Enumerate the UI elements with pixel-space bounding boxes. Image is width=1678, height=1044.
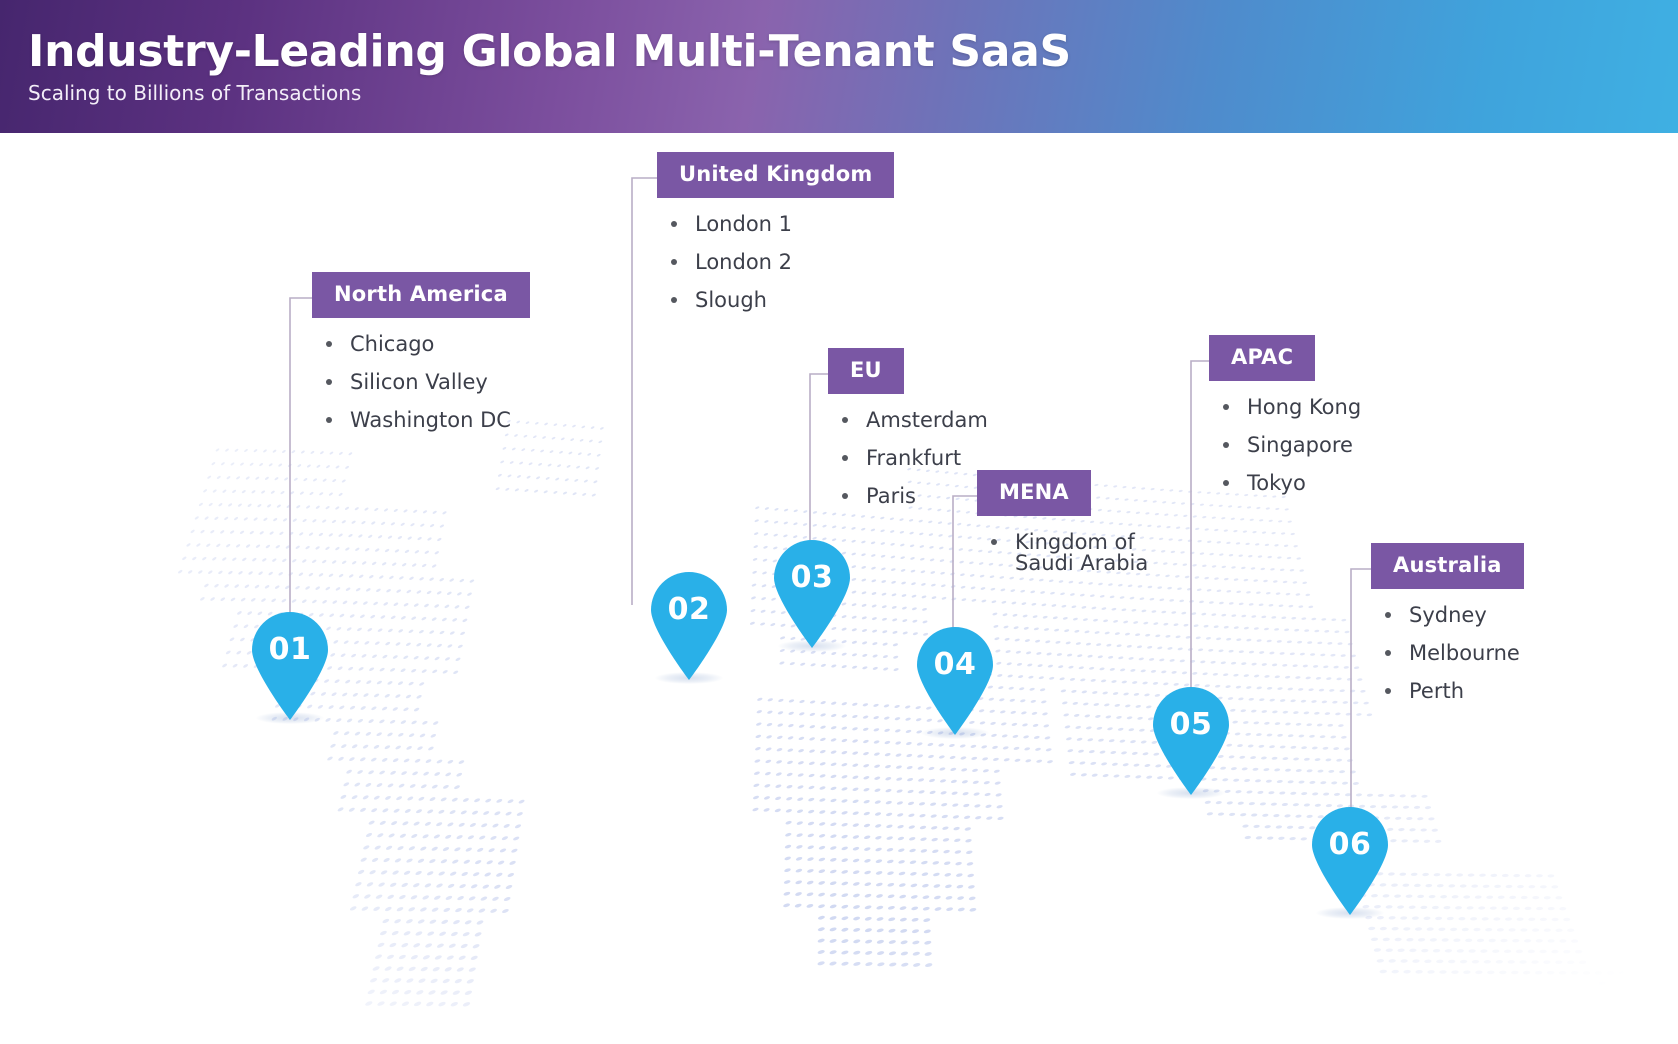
map-pin-01[interactable]: 01 (248, 608, 332, 720)
pin-marker-icon (248, 608, 332, 720)
region-label-mena[interactable]: MENA (977, 470, 1091, 516)
site-list-united-kingdom: London 1London 2Slough (657, 214, 894, 311)
site-list-item: London 1 (671, 214, 894, 235)
site-list-item: Chicago (326, 334, 530, 355)
bullet-icon (842, 493, 848, 499)
site-list-north-america: ChicagoSilicon ValleyWashington DC (312, 334, 530, 431)
site-list-item: London 2 (671, 252, 894, 273)
bullet-icon (671, 259, 677, 265)
page-title: Industry-Leading Global Multi-Tenant Saa… (28, 29, 1678, 75)
site-list-item: Amsterdam (842, 410, 988, 431)
site-list-item: Washington DC (326, 410, 530, 431)
site-list-item: Paris (842, 486, 988, 507)
site-list-item: Perth (1385, 681, 1524, 702)
region-label-eu[interactable]: EU (828, 348, 904, 394)
site-list-mena: Kingdom of Saudi Arabia (977, 532, 1148, 574)
region-label-apac[interactable]: APAC (1209, 335, 1315, 381)
map-pin-03[interactable]: 03 (770, 536, 854, 648)
bullet-icon (842, 417, 848, 423)
page-subtitle: Scaling to Billions of Transactions (28, 82, 1678, 104)
bullet-icon (1385, 688, 1391, 694)
pin-marker-icon (770, 536, 854, 648)
region-label-united-kingdom[interactable]: United Kingdom (657, 152, 894, 198)
bullet-icon (671, 221, 677, 227)
bullet-icon (1385, 650, 1391, 656)
callout-north-america: North America ChicagoSilicon ValleyWashi… (312, 272, 530, 431)
page-header: Industry-Leading Global Multi-Tenant Saa… (0, 0, 1678, 133)
map-pin-02[interactable]: 02 (647, 568, 731, 680)
bullet-icon (991, 539, 997, 545)
site-list-item: Hong Kong (1223, 397, 1361, 418)
site-list-item: Melbourne (1385, 643, 1524, 664)
bullet-icon (326, 417, 332, 423)
bullet-icon (326, 379, 332, 385)
map-pin-05[interactable]: 05 (1149, 683, 1233, 795)
site-list-eu: AmsterdamFrankfurtParis (828, 410, 988, 507)
region-label-north-america[interactable]: North America (312, 272, 530, 318)
callout-eu: EU AmsterdamFrankfurtParis (828, 348, 988, 507)
bullet-icon (671, 297, 677, 303)
site-list-item: Sydney (1385, 605, 1524, 626)
callout-australia: Australia SydneyMelbournePerth (1371, 543, 1524, 702)
bullet-icon (842, 455, 848, 461)
bullet-icon (1223, 480, 1229, 486)
callout-united-kingdom: United Kingdom London 1London 2Slough (657, 152, 894, 311)
site-list-item: Slough (671, 290, 894, 311)
map-pin-04[interactable]: 04 (913, 623, 997, 735)
pin-marker-icon (647, 568, 731, 680)
site-list-item: Silicon Valley (326, 372, 530, 393)
region-label-australia[interactable]: Australia (1371, 543, 1524, 589)
bullet-icon (326, 341, 332, 347)
world-map-area: 01 02 03 04 05 06 Nor (0, 133, 1678, 1044)
bullet-icon (1385, 612, 1391, 618)
pin-marker-icon (1308, 803, 1392, 915)
bullet-icon (1223, 442, 1229, 448)
site-list-item: Tokyo (1223, 473, 1361, 494)
pin-marker-icon (913, 623, 997, 735)
bullet-icon (1223, 404, 1229, 410)
pin-marker-icon (1149, 683, 1233, 795)
callout-apac: APAC Hong KongSingaporeTokyo (1209, 335, 1361, 494)
site-list-item: Frankfurt (842, 448, 988, 469)
site-list-apac: Hong KongSingaporeTokyo (1209, 397, 1361, 494)
site-list-item: Singapore (1223, 435, 1361, 456)
site-list-australia: SydneyMelbournePerth (1371, 605, 1524, 702)
callout-mena: MENA Kingdom of Saudi Arabia (977, 470, 1148, 574)
site-list-item: Kingdom of Saudi Arabia (991, 532, 1148, 574)
map-pin-06[interactable]: 06 (1308, 803, 1392, 915)
